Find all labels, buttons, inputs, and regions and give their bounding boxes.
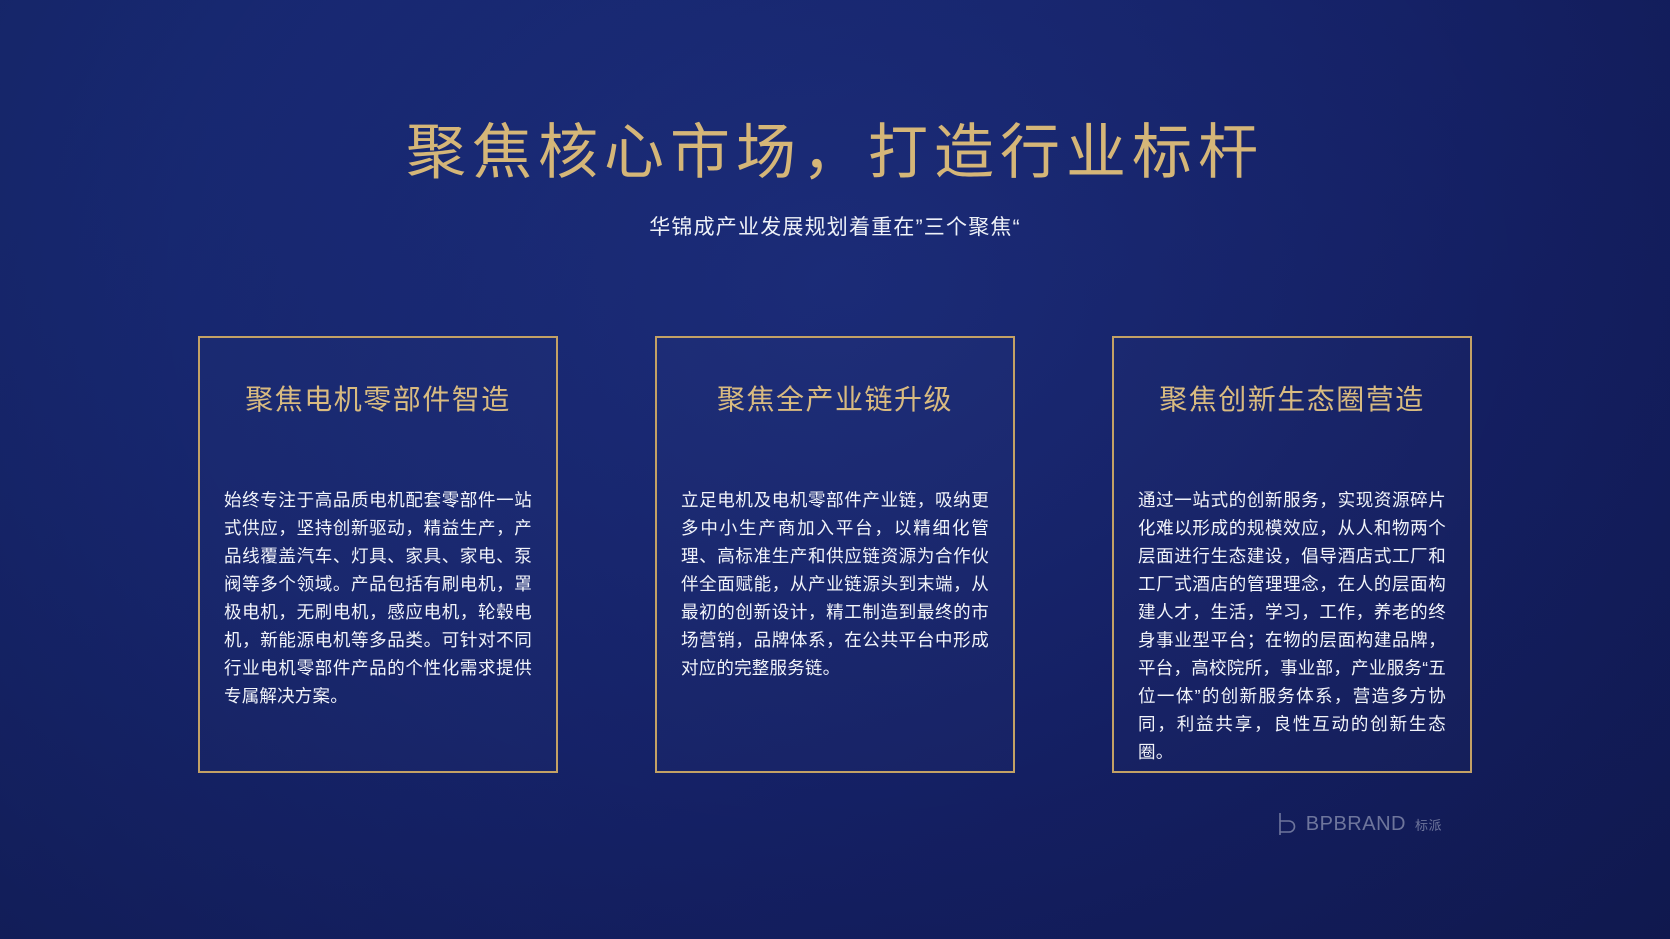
card-focus-innovation-ecosystem: 聚焦创新生态圈营造 通过一站式的创新服务，实现资源碎片化难以形成的规模效应，从人…	[1112, 336, 1472, 773]
footer-brand-logo: BPBRAND 标派	[1277, 812, 1442, 836]
card-title: 聚焦创新生态圈营造	[1114, 378, 1470, 418]
footer-logo-cn-text: 标派	[1415, 815, 1442, 836]
card-focus-motor-parts: 聚焦电机零部件智造 始终专注于高品质电机配套零部件一站式供应，坚持创新驱动，精益…	[198, 336, 558, 773]
card-body: 通过一站式的创新服务，实现资源碎片化难以形成的规模效应，从人和物两个层面进行生态…	[1138, 486, 1446, 766]
bpbrand-mark-icon	[1277, 812, 1297, 836]
slide-canvas: 聚焦核心市场，打造行业标杆 华锦成产业发展规划着重在”三个聚焦“ 聚焦电机零部件…	[0, 0, 1670, 939]
card-list: 聚焦电机零部件智造 始终专注于高品质电机配套零部件一站式供应，坚持创新驱动，精益…	[0, 336, 1670, 773]
card-focus-industry-chain: 聚焦全产业链升级 立足电机及电机零部件产业链，吸纳更多中小生产商加入平台，以精细…	[655, 336, 1015, 773]
card-title: 聚焦电机零部件智造	[200, 378, 556, 418]
card-body: 立足电机及电机零部件产业链，吸纳更多中小生产商加入平台，以精细化管理、高标准生产…	[681, 486, 989, 682]
footer-logo-text: BPBRAND	[1306, 813, 1406, 836]
page-title: 聚焦核心市场，打造行业标杆	[0, 118, 1670, 189]
card-body: 始终专注于高品质电机配套零部件一站式供应，坚持创新驱动，精益生产，产品线覆盖汽车…	[224, 486, 532, 710]
page-subtitle: 华锦成产业发展规划着重在”三个聚焦“	[0, 211, 1670, 241]
header-block: 聚焦核心市场，打造行业标杆 华锦成产业发展规划着重在”三个聚焦“	[0, 118, 1670, 241]
card-title: 聚焦全产业链升级	[657, 378, 1013, 418]
